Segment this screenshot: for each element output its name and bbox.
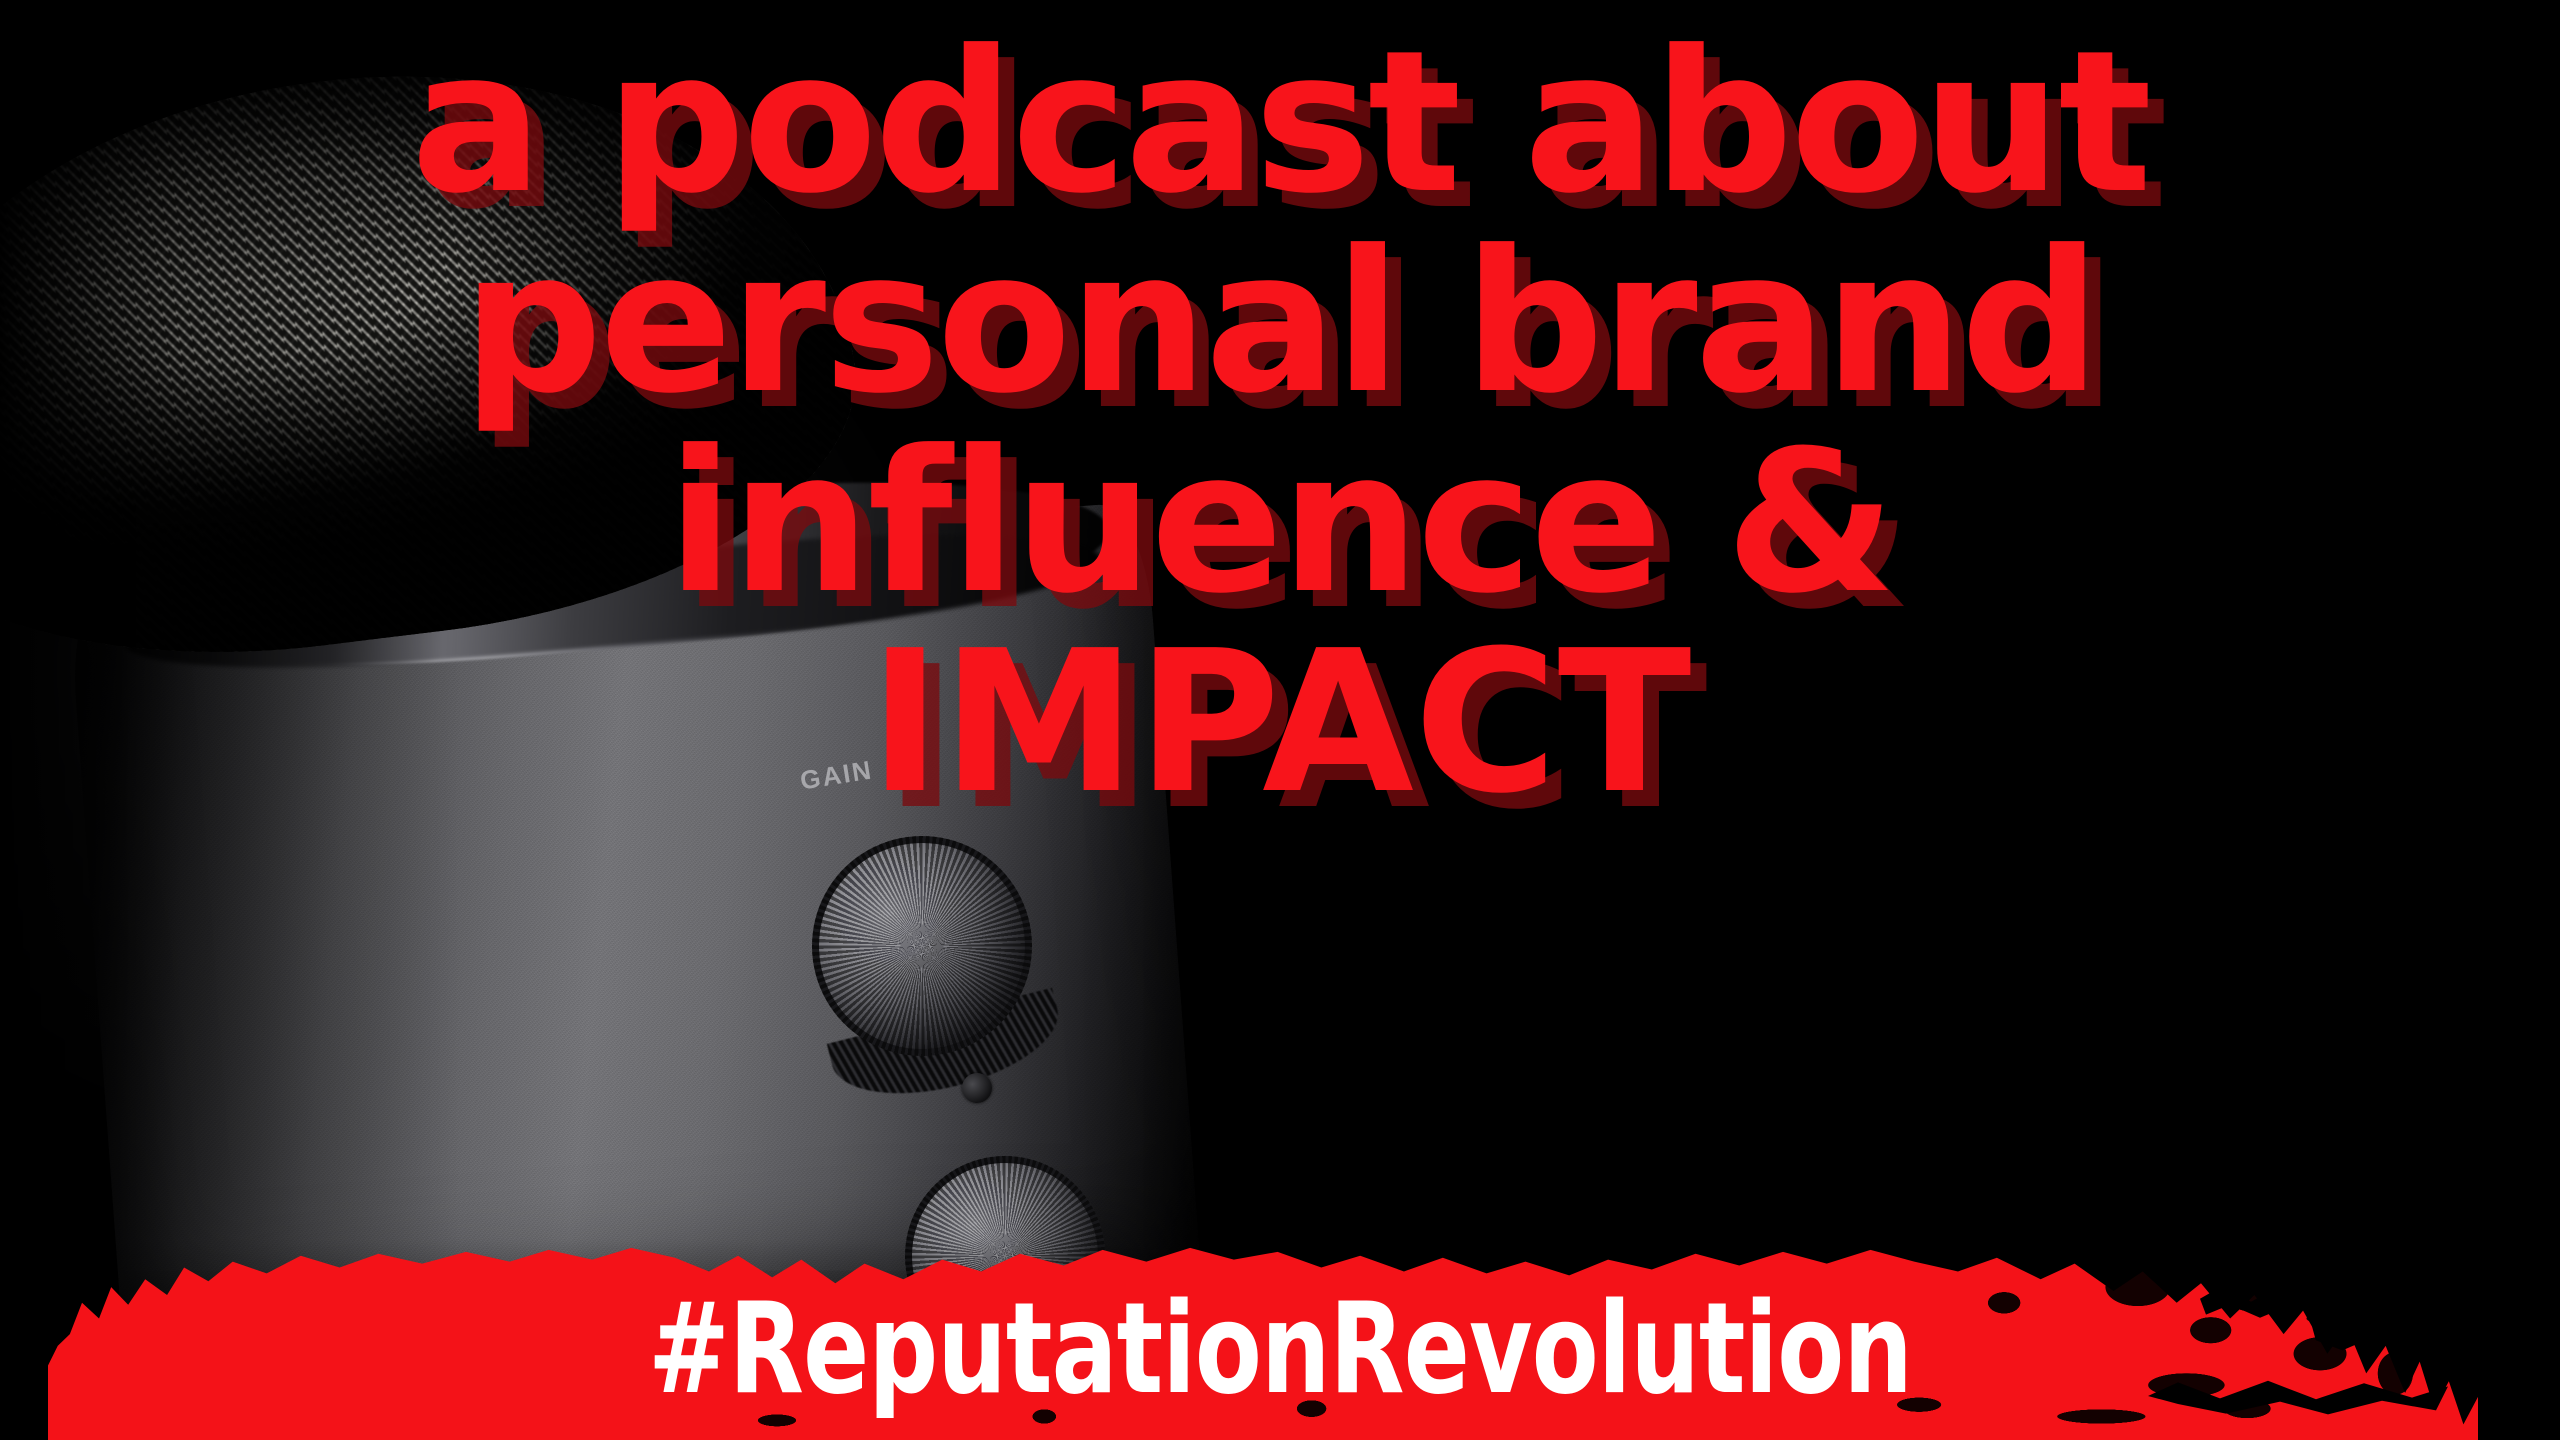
headline-line-2: personal brand — [40, 224, 2520, 424]
hashtag-banner: #ReputationRevolution — [0, 1210, 2560, 1440]
hashtag-text: #ReputationRevolution — [179, 1286, 2381, 1412]
headline-line-4: IMPACT — [40, 624, 2520, 824]
headline-line-3: influence & — [40, 424, 2520, 624]
podcast-cover-graphic: GAIN a podcast about personal brand infl… — [0, 0, 2560, 1440]
headline-block: a podcast about personal brand influence… — [0, 24, 2560, 824]
headline-line-1: a podcast about — [40, 24, 2520, 224]
